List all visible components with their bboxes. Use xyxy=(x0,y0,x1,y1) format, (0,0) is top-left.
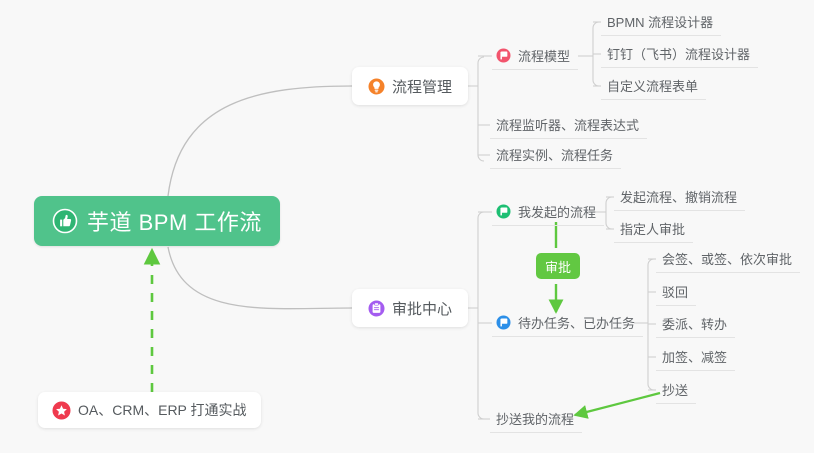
root-label: 芋道 BPM 工作流 xyxy=(87,205,262,237)
branch-process-management[interactable]: 流程管理 xyxy=(352,67,468,105)
leaf-cc[interactable]: 抄送 xyxy=(656,376,696,404)
leaf-cc-my-process[interactable]: 抄送我的流程 xyxy=(490,405,582,433)
flag-blue-icon xyxy=(496,315,511,330)
edge-approval-center-bracket xyxy=(478,212,484,419)
leaf-custom-form[interactable]: 自定义流程表单 xyxy=(601,72,706,100)
branch-label: 流程管理 xyxy=(392,76,452,97)
tag-label: 审批 xyxy=(545,257,571,276)
edge-root-to-approval-center xyxy=(168,247,352,309)
node-label: 流程模型 xyxy=(518,46,570,65)
edge-root-to-process-management xyxy=(168,86,352,196)
node-label: 抄送我的流程 xyxy=(496,409,574,428)
star-icon xyxy=(52,401,71,420)
flag-red-icon xyxy=(496,48,511,63)
node-label: 驳回 xyxy=(662,282,688,301)
footer-card-oa-crm-erp[interactable]: OA、CRM、ERP 打通实战 xyxy=(38,392,261,428)
annotation-arrow-cc-to-cc-my-process xyxy=(575,393,660,415)
leaf-add-remove-sign[interactable]: 加签、减签 xyxy=(656,343,735,371)
branch-approval-center[interactable]: 审批中心 xyxy=(352,289,468,327)
leaf-delegate-transfer[interactable]: 委派、转办 xyxy=(656,310,735,338)
lightbulb-icon xyxy=(368,78,385,95)
clipboard-icon xyxy=(368,300,385,317)
node-todo-done-tasks[interactable]: 待办任务、已办任务 xyxy=(492,309,643,337)
leaf-countersign-modes[interactable]: 会签、或签、依次审批 xyxy=(656,245,800,273)
node-label: 抄送 xyxy=(662,380,688,399)
leaf-start-cancel-process[interactable]: 发起流程、撤销流程 xyxy=(614,183,745,211)
node-label: BPMN 流程设计器 xyxy=(607,12,713,31)
leaf-process-instance-task[interactable]: 流程实例、流程任务 xyxy=(490,141,621,169)
leaf-assignee-approval[interactable]: 指定人审批 xyxy=(614,215,693,243)
node-label: 指定人审批 xyxy=(620,219,685,238)
annotation-tag-approval: 审批 xyxy=(536,253,580,279)
node-my-initiated-process[interactable]: 我发起的流程 xyxy=(492,198,604,226)
node-label: 加签、减签 xyxy=(662,347,727,366)
node-label: 流程监听器、流程表达式 xyxy=(496,115,639,134)
node-label: 我发起的流程 xyxy=(518,202,596,221)
node-label: 委派、转办 xyxy=(662,314,727,333)
node-label: 流程实例、流程任务 xyxy=(496,145,613,164)
leaf-bpmn-designer[interactable]: BPMN 流程设计器 xyxy=(601,8,721,36)
edge-my-initiated-bracket xyxy=(606,197,612,229)
node-process-model[interactable]: 流程模型 xyxy=(492,42,578,70)
leaf-process-listener-expression[interactable]: 流程监听器、流程表达式 xyxy=(490,111,647,139)
node-label: 钉钉（飞书）流程设计器 xyxy=(607,44,750,63)
flag-green-icon xyxy=(496,204,511,219)
node-label: 自定义流程表单 xyxy=(607,76,698,95)
edge-todo-bracket xyxy=(648,259,654,390)
mindmap-canvas: 芋道 BPM 工作流 流程管理 流程模型 BPMN 流程设计器 钉钉（飞书）流程… xyxy=(0,0,814,453)
footer-card-label: OA、CRM、ERP 打通实战 xyxy=(78,400,247,420)
node-label: 待办任务、已办任务 xyxy=(518,313,635,332)
leaf-dingtalk-designer[interactable]: 钉钉（飞书）流程设计器 xyxy=(601,40,758,68)
thumbs-up-icon xyxy=(52,208,78,234)
node-label: 会签、或签、依次审批 xyxy=(662,249,792,268)
leaf-reject[interactable]: 驳回 xyxy=(656,278,696,306)
branch-label: 审批中心 xyxy=(392,298,452,319)
root-node[interactable]: 芋道 BPM 工作流 xyxy=(34,196,280,246)
edge-process-model-bracket xyxy=(593,22,599,86)
node-label: 发起流程、撤销流程 xyxy=(620,187,737,206)
edge-process-management-bracket xyxy=(478,57,484,161)
